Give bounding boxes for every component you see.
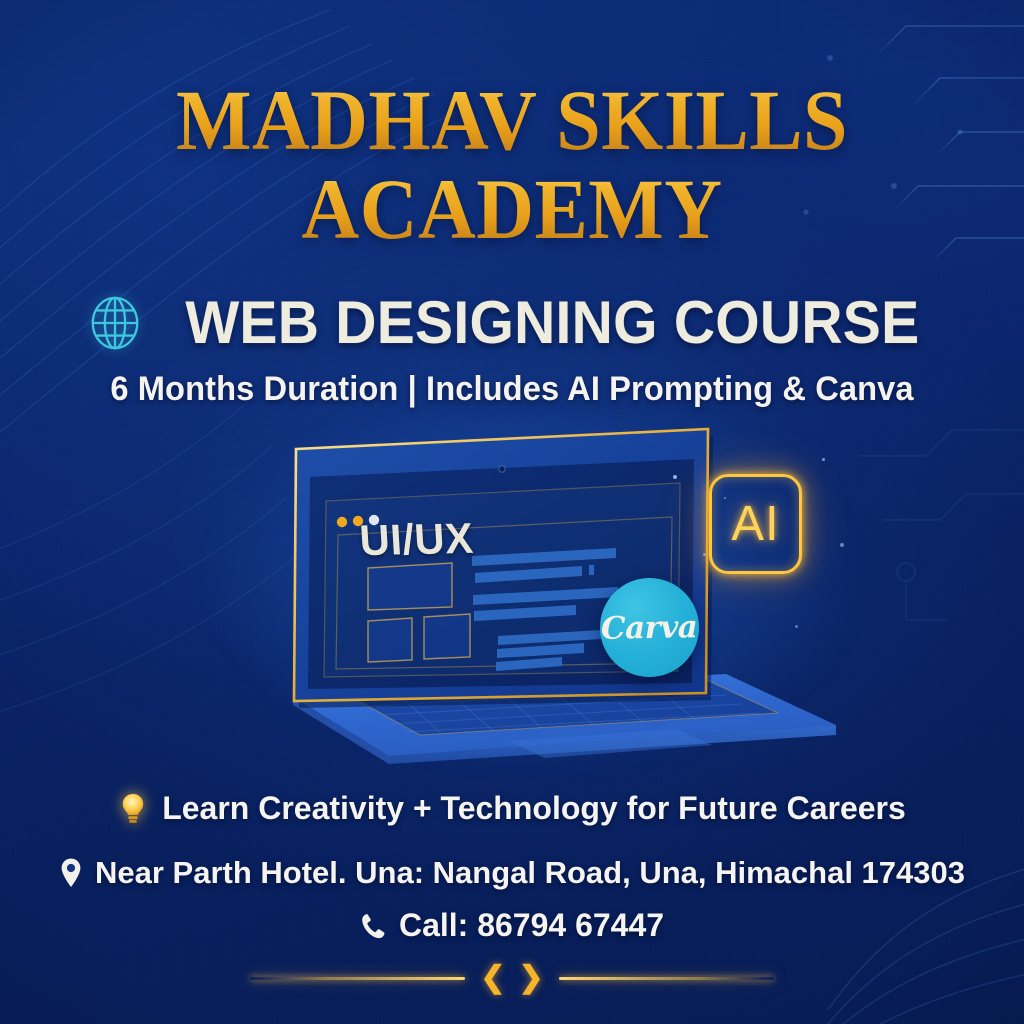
phone-row: Call: 86794 67447	[0, 907, 1024, 944]
divider-chevrons: ❮ ❯	[465, 963, 558, 993]
sparkle-dot	[703, 553, 706, 556]
footer-divider: ❮ ❯	[0, 963, 1024, 993]
laptop-illustration	[0, 425, 1024, 775]
tagline-row: Learn Creativity + Technology for Future…	[0, 790, 1024, 827]
brand-title-line-2: ACADEMY	[36, 167, 988, 252]
divider-bar-left	[250, 977, 465, 980]
sparkle-dot	[795, 625, 798, 628]
sparkle-dot	[840, 543, 844, 547]
ai-badge-label: AI	[731, 496, 779, 552]
artwork-stage	[0, 425, 1024, 775]
address-row: Near Parth Hotel. Una: Nangal Road, Una,…	[0, 855, 1024, 891]
phone-icon	[360, 912, 387, 940]
brand-title-line-1: MADHAV SKILLS	[36, 78, 988, 163]
tagline-text: Learn Creativity + Technology for Future…	[162, 790, 906, 827]
sparkle-dot	[822, 458, 825, 461]
chevron-left-icon: ❮	[480, 963, 505, 993]
footer-info: Learn Creativity + Technology for Future…	[0, 790, 1024, 944]
ai-badge: AI	[709, 474, 802, 574]
course-subheadline: 6 Months Duration | Includes AI Promptin…	[20, 370, 1003, 409]
chevron-right-icon: ❯	[519, 963, 544, 993]
canva-badge-label: Carva	[601, 609, 698, 647]
canva-badge: Carva	[600, 578, 699, 677]
address-text: Near Parth Hotel. Una: Nangal Road, Una,…	[95, 855, 965, 891]
course-headline: WEB DESIGNING COURSE	[185, 288, 919, 357]
poster-canvas: MADHAV SKILLS ACADEMY WEB DESIGNING COUR…	[0, 0, 1024, 1024]
divider-bar-right	[559, 977, 774, 980]
course-headline-row: WEB DESIGNING COURSE	[0, 288, 1024, 357]
map-pin-icon	[59, 857, 83, 889]
lightbulb-icon	[118, 792, 148, 826]
brand-title: MADHAV SKILLS ACADEMY	[0, 78, 1024, 252]
screen-uiux-label: UI/UX	[358, 515, 475, 566]
sparkle-dot	[673, 475, 677, 479]
phone-text: Call: 86794 67447	[399, 907, 664, 944]
globe-icon	[86, 294, 144, 352]
